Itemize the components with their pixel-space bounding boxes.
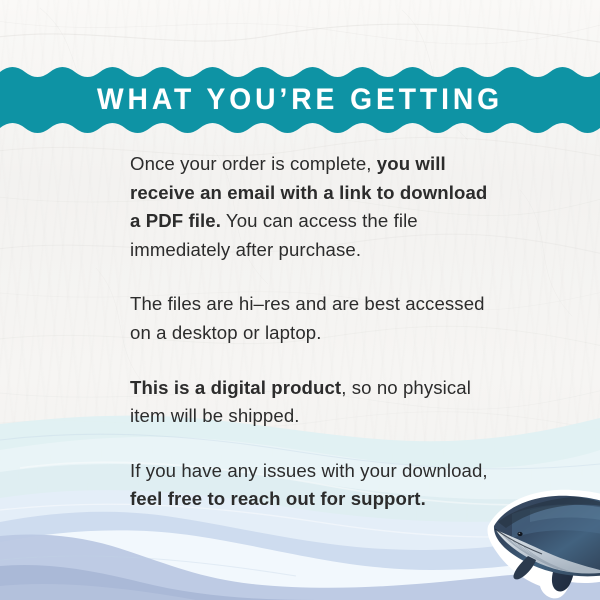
- p2-run-1: The files are hi–res and are best access…: [130, 293, 485, 343]
- paragraph-4: If you have any issues with your downloa…: [130, 457, 490, 514]
- p1-run-1: Once your order is complete,: [130, 153, 377, 174]
- p4-run-1: If you have any issues with your downloa…: [130, 460, 488, 481]
- paragraph-3: This is a digital product, so no physica…: [130, 374, 490, 431]
- paragraph-2: The files are hi–res and are best access…: [130, 290, 490, 347]
- body-copy: Once your order is complete, you will re…: [130, 150, 490, 514]
- product-info-card: WHAT YOU’RE GETTING: [0, 0, 600, 600]
- whale-eye: [517, 532, 522, 536]
- p4-run-2: feel free to reach out for support.: [130, 488, 426, 509]
- paragraph-1: Once your order is complete, you will re…: [130, 150, 490, 264]
- p3-run-1: This is a digital product: [130, 377, 341, 398]
- page-title: WHAT YOU’RE GETTING: [18, 62, 582, 138]
- whale-illustration: [472, 484, 600, 600]
